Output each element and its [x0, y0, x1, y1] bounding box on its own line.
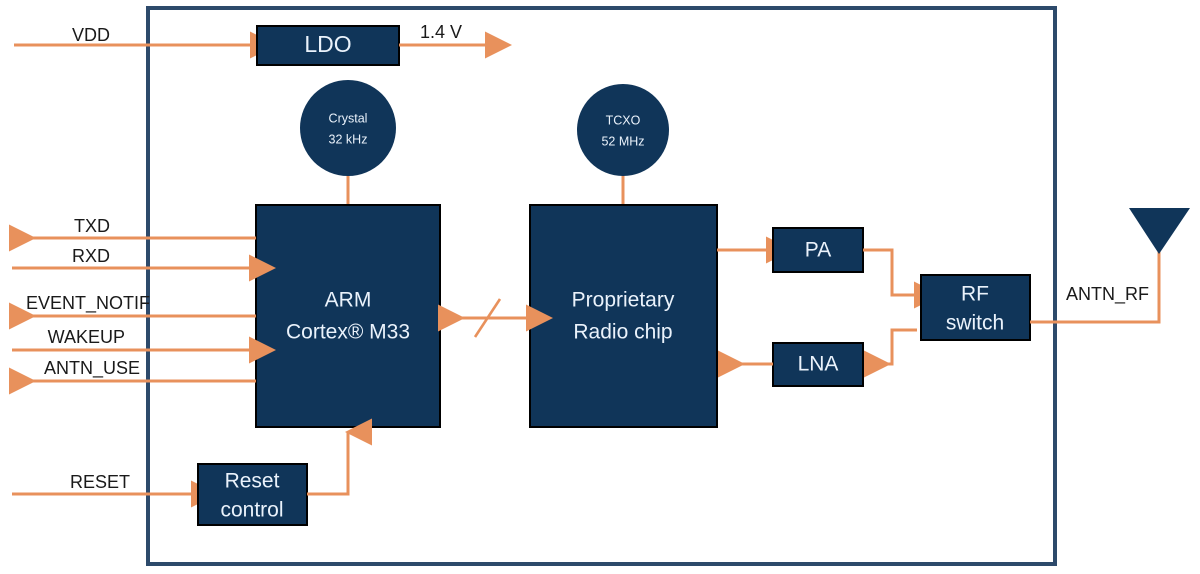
block-pa-label: PA	[805, 239, 831, 262]
wire-rf-switch-to-lna	[867, 330, 917, 364]
block-tcxo-label-line2: 52 MHz	[601, 134, 644, 148]
signal-label-txd: TXD	[74, 216, 110, 236]
block-reset-control-label-line1: Reset	[225, 470, 280, 493]
block-lna-label: LNA	[798, 353, 839, 376]
block-mcu	[256, 205, 440, 427]
block-rf-switch-label-line1: RF	[961, 283, 989, 306]
block-radio-label-line2: Radio chip	[573, 321, 672, 344]
antenna-icon	[1129, 208, 1190, 254]
signal-label-vdd: VDD	[72, 25, 110, 45]
block-ldo-label: LDO	[304, 31, 351, 57]
block-rf-switch-label-line2: switch	[946, 312, 1004, 335]
block-tcxo	[577, 84, 669, 176]
block-radio	[530, 205, 717, 427]
signal-label-antn-use: ANTN_USE	[44, 358, 140, 379]
block-diagram-canvas: VDD LDO 1.4 V Crystal 32 kHz TCXO 52 MHz…	[0, 0, 1200, 574]
block-mcu-label-line1: ARM	[325, 289, 372, 312]
signal-label-event-notif: EVENT_NOTIF	[26, 293, 150, 314]
block-radio-label-line1: Proprietary	[572, 289, 675, 312]
block-tcxo-label-line1: TCXO	[606, 113, 641, 127]
block-crystal-label-line1: Crystal	[329, 111, 368, 125]
block-mcu-label-line2: Cortex® M33	[286, 321, 410, 344]
wire-reset-to-mcu	[307, 432, 348, 494]
signal-label-reset: RESET	[70, 472, 130, 492]
rf-module-diagram: VDD LDO 1.4 V Crystal 32 kHz TCXO 52 MHz…	[0, 0, 1200, 574]
block-crystal-label-line2: 32 kHz	[329, 132, 368, 146]
signal-label-ldo-output: 1.4 V	[420, 22, 462, 42]
block-reset-control-label-line2: control	[220, 499, 283, 522]
signal-label-wakeup: WAKEUP	[48, 327, 125, 347]
signal-label-rxd: RXD	[72, 246, 110, 266]
wire-pa-to-rf-switch	[863, 250, 917, 295]
signal-label-antn-rf: ANTN_RF	[1066, 284, 1149, 305]
block-crystal	[300, 80, 396, 176]
